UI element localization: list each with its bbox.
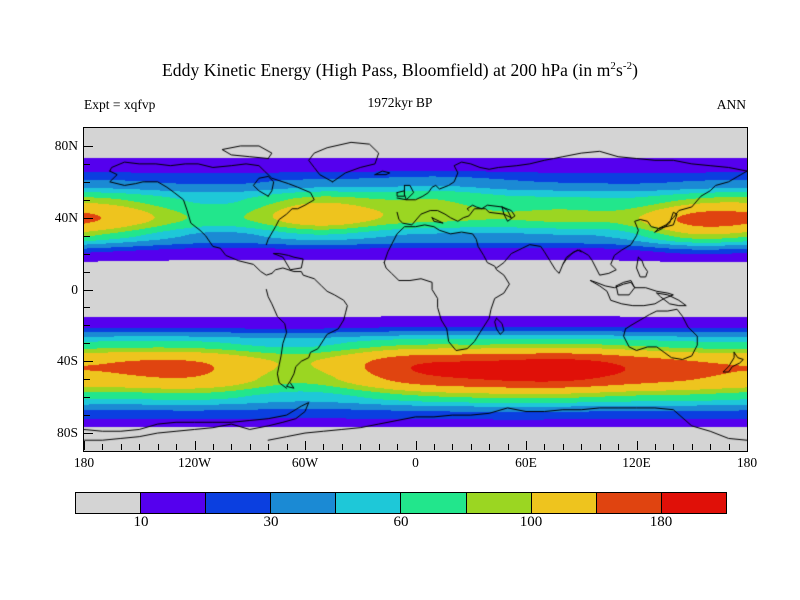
x-axis-tick <box>397 444 398 450</box>
x-axis-tick <box>526 441 527 450</box>
x-axis-tick <box>360 444 361 450</box>
y-axis-tick <box>84 307 90 308</box>
y-axis-label: 80N <box>55 138 78 154</box>
x-axis-label: 180 <box>74 455 94 471</box>
x-axis-tick <box>102 444 103 450</box>
colorbar-swatch-orange-red <box>596 493 661 513</box>
colorbar-swatch-medium-blue <box>270 493 335 513</box>
y-axis-tick <box>84 415 90 416</box>
x-axis-tick <box>268 444 269 450</box>
x-axis-tick <box>452 444 453 450</box>
colorbar-tick-label: 30 <box>264 514 279 531</box>
x-axis-tick <box>581 444 582 450</box>
y-axis-label: 40S <box>57 353 78 369</box>
x-axis-tick <box>195 441 196 450</box>
y-axis-label: 40N <box>55 210 78 226</box>
x-axis-label: 120E <box>622 455 651 471</box>
x-axis-tick <box>489 444 490 450</box>
x-axis-tick <box>729 444 730 450</box>
period-label: 1972kyr BP <box>0 95 800 111</box>
colorbar <box>75 492 727 514</box>
colorbar-swatch-spring-green <box>400 493 465 513</box>
y-axis-tick <box>84 272 90 273</box>
colorbar-tick-label: 10 <box>134 514 149 531</box>
y-axis-tick <box>84 164 90 165</box>
x-axis-label: 180 <box>737 455 757 471</box>
y-axis-tick <box>84 182 90 183</box>
x-axis-label: 60E <box>515 455 537 471</box>
x-axis-label: 60W <box>292 455 318 471</box>
x-axis-tick <box>655 444 656 450</box>
y-axis-tick <box>84 397 90 398</box>
y-axis-label: 80S <box>57 425 78 441</box>
x-axis-tick <box>176 444 177 450</box>
y-axis-tick <box>84 254 90 255</box>
map-plot-area <box>83 127 748 452</box>
x-axis-tick <box>637 441 638 450</box>
x-axis-tick <box>250 444 251 450</box>
colorbar-swatch-blue <box>205 493 270 513</box>
title-text-prefix: Eddy Kinetic Energy (High Pass, Bloomfie… <box>162 60 610 80</box>
x-axis-tick <box>471 444 472 450</box>
colorbar-swatch-golden-yellow <box>531 493 596 513</box>
x-axis-tick <box>305 441 306 450</box>
y-axis-tick <box>84 146 93 147</box>
x-axis-tick <box>710 444 711 450</box>
x-axis-tick <box>231 444 232 450</box>
y-axis-label: 0 <box>71 282 78 298</box>
x-axis-tick <box>600 444 601 450</box>
y-axis-tick <box>84 361 93 362</box>
x-axis-tick <box>323 444 324 450</box>
x-axis-tick <box>213 444 214 450</box>
x-axis-tick <box>673 444 674 450</box>
x-axis-tick <box>121 444 122 450</box>
colorbar-swatch-cyan <box>335 493 400 513</box>
colorbar-swatch-yellow-green <box>466 493 531 513</box>
x-axis-tick <box>416 441 417 450</box>
y-axis-tick <box>84 433 93 434</box>
x-axis-tick <box>618 444 619 450</box>
colorbar-swatch-light-grey <box>76 493 140 513</box>
x-axis-tick <box>342 444 343 450</box>
x-axis-tick <box>434 444 435 450</box>
figure-panel: Eddy Kinetic Energy (High Pass, Bloomfie… <box>0 0 800 600</box>
y-axis-tick <box>84 200 90 201</box>
x-axis-tick <box>379 444 380 450</box>
title-text-mid: s <box>616 60 623 80</box>
colorbar-swatch-blue-violet <box>140 493 205 513</box>
season-label: ANN <box>717 97 746 113</box>
colorbar-tick-label: 60 <box>394 514 409 531</box>
y-axis-tick <box>84 218 93 219</box>
x-axis-label: 120W <box>178 455 211 471</box>
title-superscript-minus-two: -2 <box>623 60 632 72</box>
y-axis-tick <box>84 379 90 380</box>
x-axis-tick <box>139 444 140 450</box>
x-axis-tick <box>508 444 509 450</box>
x-axis-tick <box>747 441 748 450</box>
title-text-suffix: ) <box>632 60 638 80</box>
y-axis-tick <box>84 343 90 344</box>
page-title: Eddy Kinetic Energy (High Pass, Bloomfie… <box>0 60 800 81</box>
eddy-kinetic-energy-heatmap <box>84 128 747 451</box>
x-axis-tick <box>692 444 693 450</box>
colorbar-tick-label: 180 <box>650 514 673 531</box>
colorbar-swatch-red <box>661 493 726 513</box>
x-axis-tick <box>84 441 85 450</box>
y-axis-tick <box>84 236 90 237</box>
x-axis-label: 0 <box>412 455 419 471</box>
x-axis-tick <box>544 444 545 450</box>
y-axis-tick <box>84 325 90 326</box>
colorbar-tick-label: 100 <box>520 514 543 531</box>
y-axis-tick <box>84 290 93 291</box>
x-axis-tick <box>563 444 564 450</box>
x-axis-tick <box>158 444 159 450</box>
x-axis-tick <box>287 444 288 450</box>
